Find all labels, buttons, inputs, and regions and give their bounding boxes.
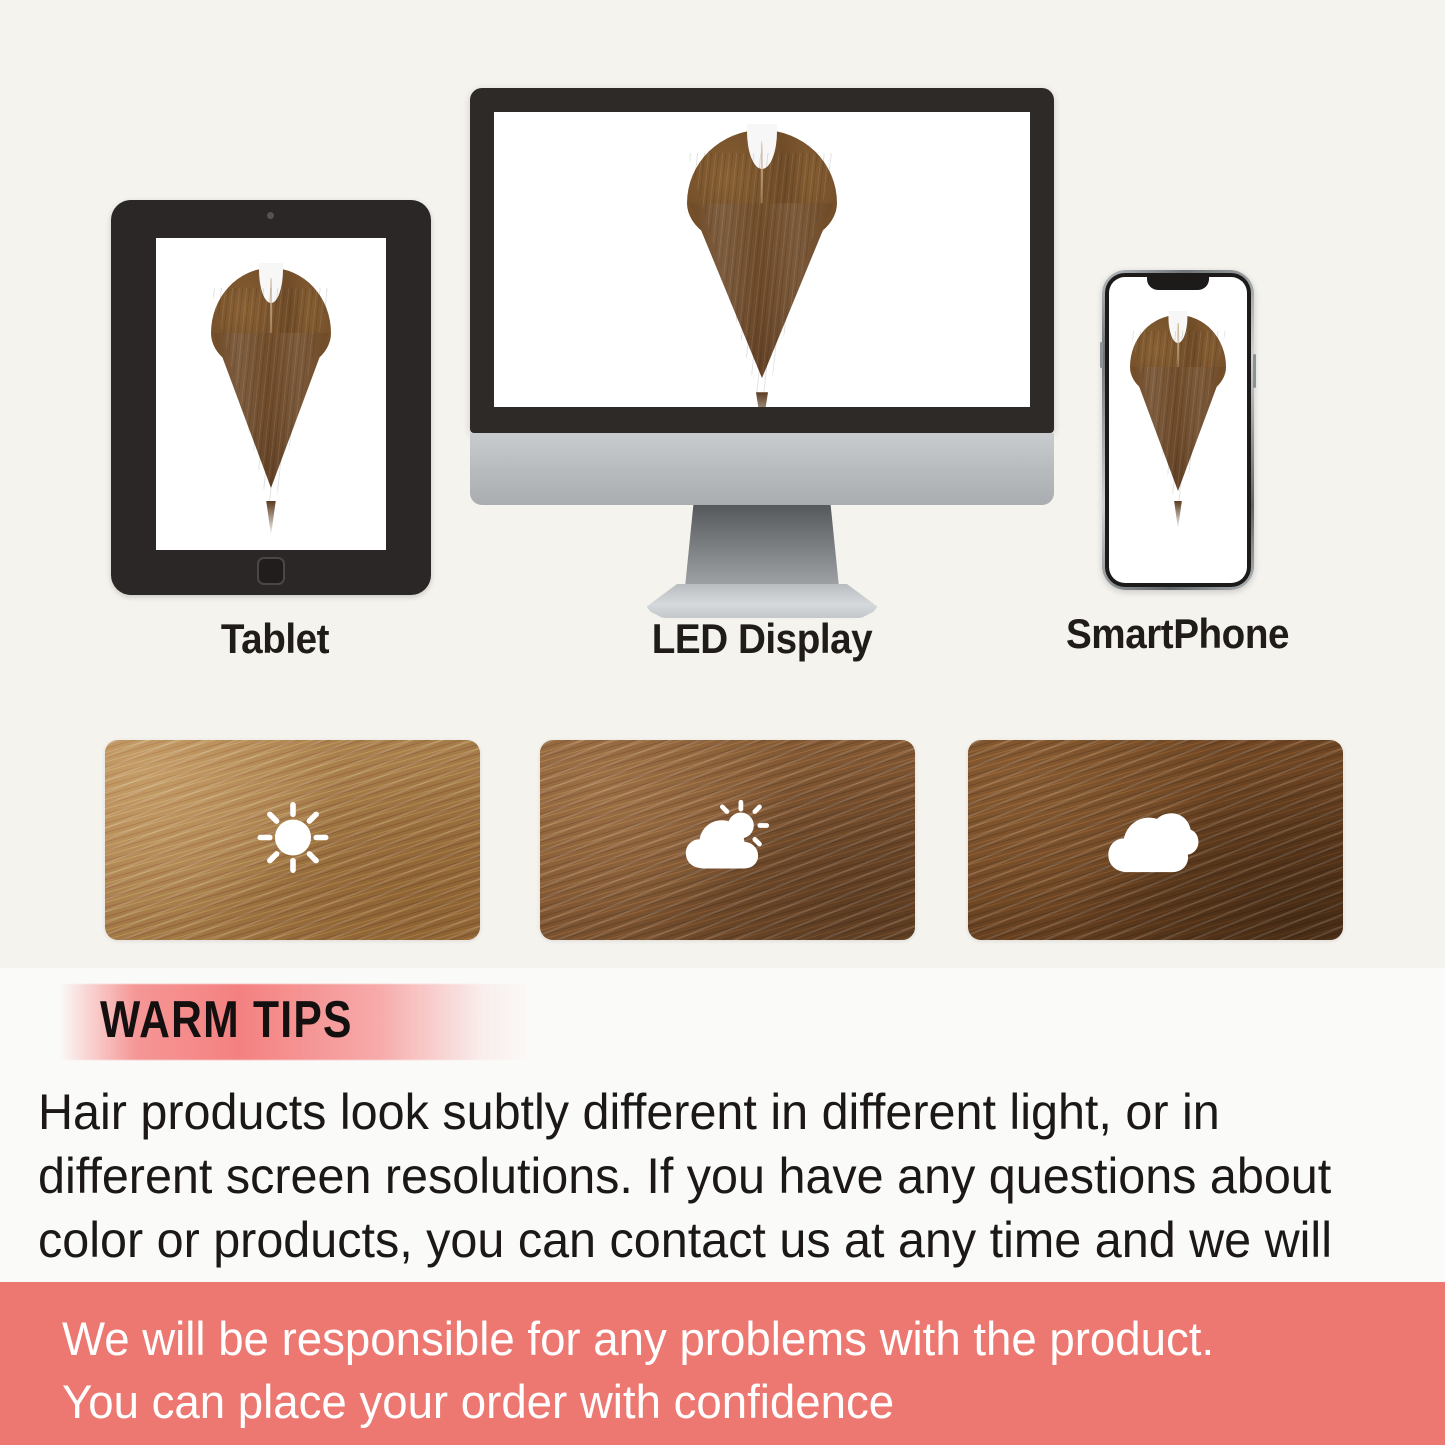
hair-body: [1132, 367, 1224, 491]
smartphone-notch: [1147, 277, 1209, 290]
hair-topper-image: [211, 268, 331, 518]
warm-tips-section: WARM TIPS Hair products look subtly diff…: [0, 968, 1445, 1282]
devices-section: Tablet LED Display: [0, 0, 1445, 968]
guarantee-banner: We will be responsible for any problems …: [0, 1282, 1445, 1445]
smartphone-device-icon: [1102, 270, 1254, 590]
hair-swatch-overcast-light: [968, 740, 1343, 940]
device-label-led-display: LED Display: [486, 615, 1038, 663]
smartphone-power-button[interactable]: [1253, 354, 1256, 388]
guarantee-banner-text: We will be responsible for any problems …: [62, 1308, 1352, 1433]
monitor-screen: [494, 112, 1030, 407]
hair-body: [690, 203, 834, 378]
guarantee-line-2: You can place your order with confidence: [62, 1371, 1352, 1434]
clouds-icon: [1104, 798, 1208, 883]
smartphone-volume-button[interactable]: [1100, 342, 1103, 368]
monitor-stand-neck: [684, 505, 840, 597]
tablet-home-button[interactable]: [257, 557, 285, 585]
hair-swatch-bright-light: [105, 740, 480, 940]
infographic-page: Tablet LED Display: [0, 0, 1445, 1445]
monitor-stand-base: [644, 584, 880, 618]
device-label-tablet: Tablet: [119, 615, 432, 663]
tablet-screen: [156, 238, 386, 550]
device-label-smartphone: SmartPhone: [1056, 610, 1300, 658]
sun-behind-cloud-icon: [676, 795, 780, 886]
monitor-chin: [470, 433, 1054, 505]
warm-tips-title: WARM TIPS: [100, 990, 353, 1050]
monitor-device-icon: [470, 88, 1054, 433]
hair-topper-image: [687, 130, 837, 407]
guarantee-line-1: We will be responsible for any problems …: [62, 1308, 1352, 1371]
sun-icon: [250, 795, 336, 886]
tablet-camera-icon: [267, 212, 274, 219]
hair-topper-image: [1130, 315, 1226, 515]
hair-tip: [1174, 501, 1182, 529]
tablet-device-icon: [111, 200, 431, 595]
hair-tip: [266, 501, 276, 536]
hair-body: [213, 333, 328, 488]
hair-swatch-partly-cloudy-light: [540, 740, 915, 940]
hair-tip: [756, 392, 768, 407]
smartphone-screen: [1109, 277, 1247, 583]
